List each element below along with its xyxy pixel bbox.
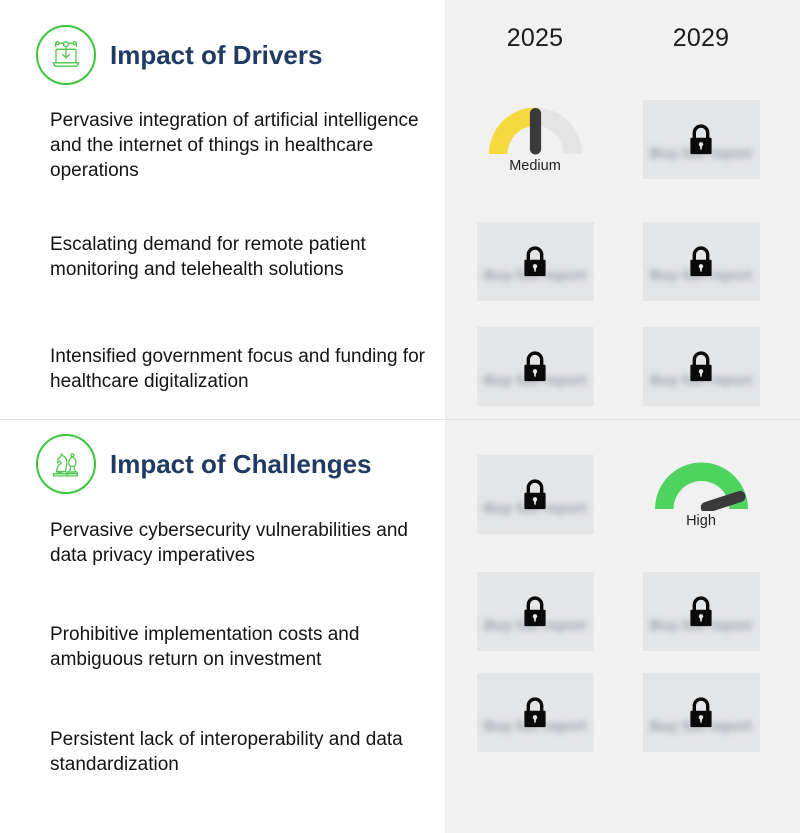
locked-placeholder[interactable]: Buy full report xyxy=(477,572,594,651)
cell-2029-challenge-3[interactable]: Buy full report xyxy=(636,673,766,752)
cell-2025-challenge-3[interactable]: Buy full report xyxy=(470,673,600,752)
impact-matrix: 2025 2029 Impact of Drivers xyxy=(0,0,800,833)
challenge-row-label: Prohibitive implementation costs and amb… xyxy=(50,622,425,672)
locked-placeholder[interactable]: Buy full report xyxy=(477,222,594,301)
gauge-medium: Medium xyxy=(477,100,594,179)
cell-2025-challenge-1[interactable]: Buy full report xyxy=(470,455,600,534)
section-header-drivers: Impact of Drivers xyxy=(36,25,322,85)
lock-icon xyxy=(520,593,550,631)
lock-icon xyxy=(686,593,716,631)
cell-2025-driver-2[interactable]: Buy full report xyxy=(470,222,600,301)
cell-2029-driver-3[interactable]: Buy full report xyxy=(636,327,766,406)
chess-pieces-icon xyxy=(36,434,96,494)
locked-placeholder[interactable]: Buy full report xyxy=(643,327,760,406)
lock-icon xyxy=(520,348,550,386)
locked-placeholder[interactable]: Buy full report xyxy=(643,673,760,752)
locked-placeholder[interactable]: Buy full report xyxy=(643,222,760,301)
gauge-label: High xyxy=(686,513,716,529)
locked-placeholder[interactable]: Buy full report xyxy=(643,572,760,651)
column-header-2025: 2025 xyxy=(470,24,600,53)
section-title: Impact of Challenges xyxy=(110,449,372,480)
driver-row-label: Intensified government focus and funding… xyxy=(50,344,425,394)
challenge-row-label: Pervasive cybersecurity vulnerabilities … xyxy=(50,518,425,568)
cell-2029-driver-1[interactable]: Buy full report xyxy=(636,100,766,179)
section-divider xyxy=(0,419,800,420)
cell-2029-challenge-2[interactable]: Buy full report xyxy=(636,572,766,651)
challenge-row-label: Persistent lack of interoperability and … xyxy=(50,727,425,777)
locked-placeholder[interactable]: Buy full report xyxy=(477,455,594,534)
section-title: Impact of Drivers xyxy=(110,40,322,71)
locked-placeholder[interactable]: Buy full report xyxy=(477,327,594,406)
cell-2025-driver-3[interactable]: Buy full report xyxy=(470,327,600,406)
cell-2025-challenge-2[interactable]: Buy full report xyxy=(470,572,600,651)
driver-row-label: Pervasive integration of artificial inte… xyxy=(50,108,425,183)
lock-icon xyxy=(686,348,716,386)
lock-icon xyxy=(686,243,716,281)
section-header-challenges: Impact of Challenges xyxy=(36,434,372,494)
gauge-high: High xyxy=(643,455,760,534)
cell-2029-driver-2[interactable]: Buy full report xyxy=(636,222,766,301)
driver-row-label: Escalating demand for remote patient mon… xyxy=(50,232,425,282)
cell-2029-challenge-1: High xyxy=(636,455,766,534)
gauge-label: Medium xyxy=(509,158,561,174)
locked-placeholder[interactable]: Buy full report xyxy=(643,100,760,179)
lock-icon xyxy=(520,476,550,514)
lock-icon xyxy=(520,694,550,732)
lock-icon xyxy=(686,694,716,732)
column-header-2029: 2029 xyxy=(636,24,766,53)
lock-icon xyxy=(520,243,550,281)
laptop-download-icon xyxy=(36,25,96,85)
cell-2025-driver-1: Medium xyxy=(470,100,600,179)
locked-placeholder[interactable]: Buy full report xyxy=(477,673,594,752)
lock-icon xyxy=(686,121,716,159)
